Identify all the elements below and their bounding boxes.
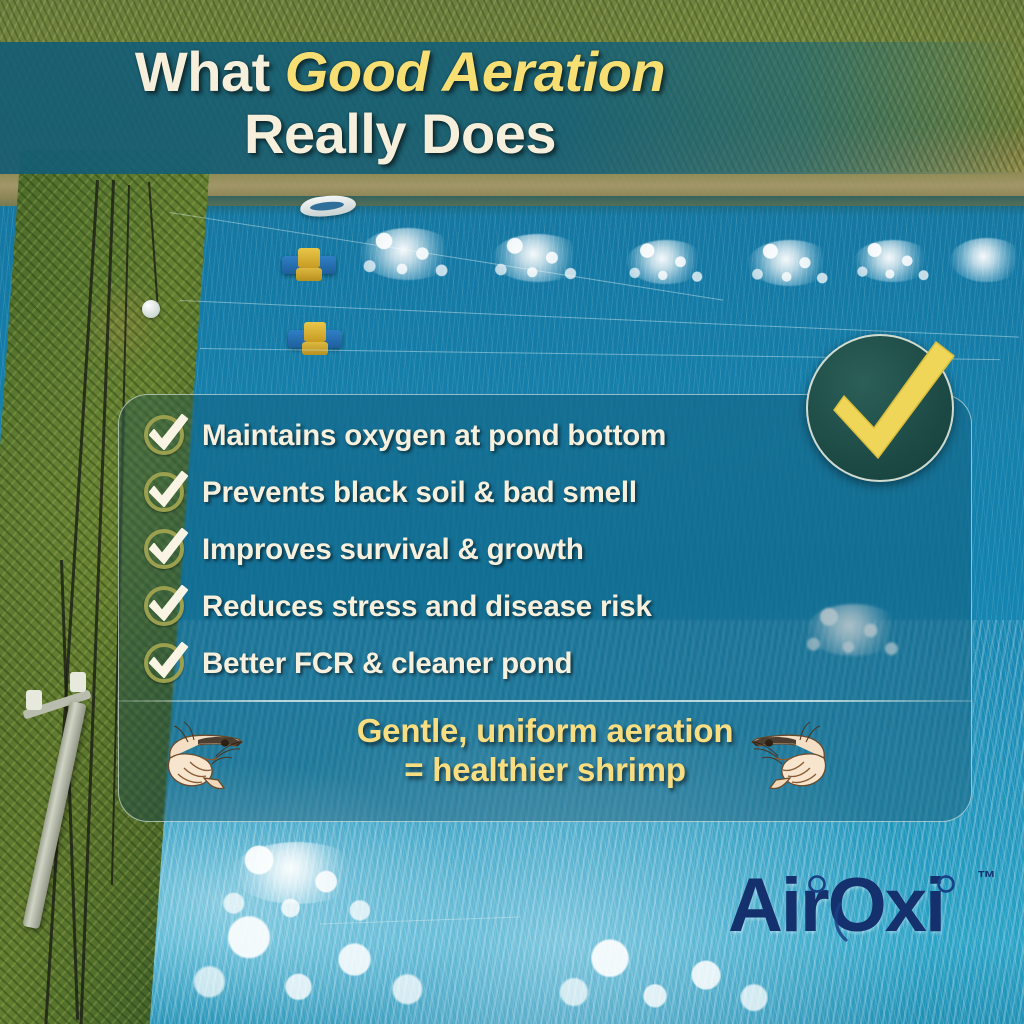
diffuser-foam-patch: [950, 238, 1024, 282]
check-glyph-icon: [141, 580, 191, 630]
check-glyph-icon: [141, 523, 191, 573]
benefits-list: Maintains oxygen at pond bottom Prevents…: [142, 408, 842, 693]
check-glyph-icon: [141, 466, 191, 516]
list-item-label: Reduces stress and disease risk: [202, 590, 652, 624]
brand-logo: AirOxi ™: [728, 862, 998, 958]
diffuser-bubble-spray: [480, 226, 596, 292]
logo-bubble-ring-icon: [728, 862, 998, 958]
title-line-2: Really Does: [0, 106, 800, 162]
list-item: Prevents black soil & bad smell: [142, 465, 842, 521]
check-glyph-icon: [141, 637, 191, 687]
list-item: Maintains oxygen at pond bottom: [142, 408, 842, 464]
list-item: Improves survival & growth: [142, 522, 842, 578]
check-circle-icon: [142, 413, 188, 459]
diffuser-bubble-spray: [738, 232, 846, 296]
trademark-symbol: ™: [977, 868, 996, 890]
check-circle-icon: [142, 641, 188, 687]
check-glyph-icon: [141, 409, 191, 459]
check-circle-icon: [142, 470, 188, 516]
diffuser-bubble-spray: [616, 232, 720, 294]
diffuser-bubble-spray: [348, 220, 468, 290]
paddlewheel-aerator: [282, 248, 336, 282]
list-item-label: Better FCR & cleaner pond: [202, 647, 572, 681]
water-surface-sparkle: [150, 900, 480, 1024]
diffuser-bubble-spray: [844, 232, 946, 292]
pole-insulator: [26, 690, 42, 710]
list-item-label: Maintains oxygen at pond bottom: [202, 419, 666, 453]
title-line-1: What Good Aeration: [0, 44, 800, 100]
pole-insulator: [70, 672, 86, 692]
paddlewheel-aerator: [288, 322, 342, 356]
boat-interior: [310, 200, 345, 212]
title-accent-part: Good Aeration: [285, 40, 665, 103]
pond-top-edge-shadow: [150, 196, 1024, 216]
aerator-paddle: [296, 268, 322, 281]
title-plain-part: What: [135, 40, 285, 103]
shrimp-icon: [154, 716, 250, 800]
page-title: What Good Aeration Really Does: [0, 44, 800, 162]
list-item: Reduces stress and disease risk: [142, 579, 842, 635]
list-item: Better FCR & cleaner pond: [142, 636, 842, 692]
aerator-motor: [304, 322, 326, 342]
infographic-canvas: What Good Aeration Really Does Maintains…: [0, 0, 1024, 1024]
aerator-motor: [298, 248, 320, 268]
check-circle-icon: [142, 527, 188, 573]
list-item-label: Prevents black soil & bad smell: [202, 476, 637, 510]
list-item-label: Improves survival & growth: [202, 533, 584, 567]
pond-buoy: [142, 300, 160, 318]
panel-divider: [118, 700, 972, 702]
shrimp-icon: [744, 716, 840, 800]
check-circle-icon: [142, 584, 188, 630]
